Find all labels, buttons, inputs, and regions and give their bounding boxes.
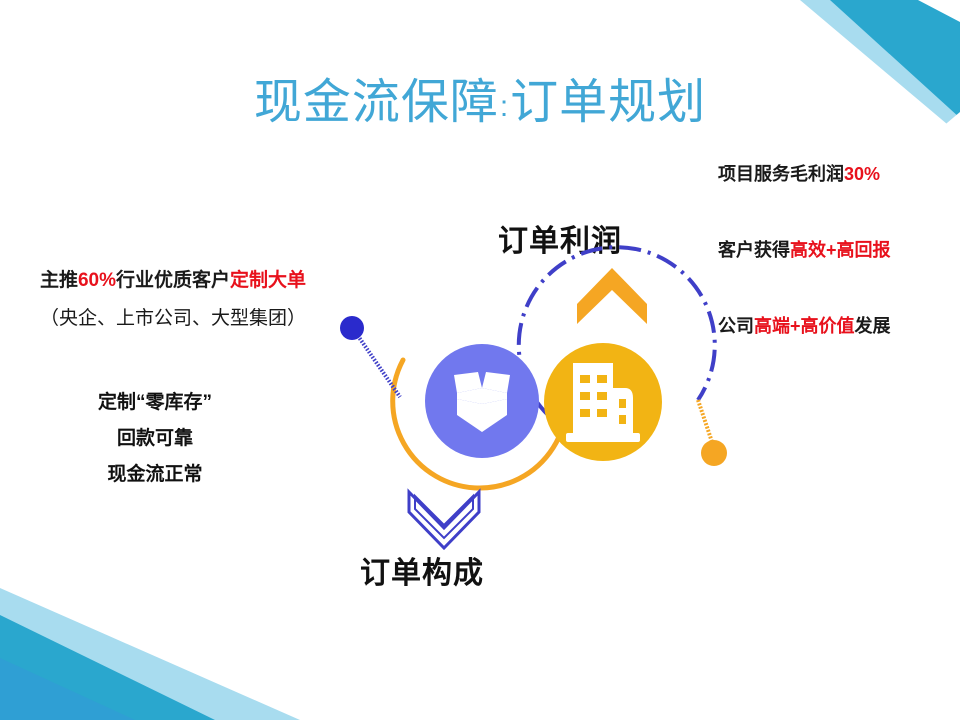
right-item-2-part3: 发展 xyxy=(855,316,891,336)
list-item: 客户获得高效+高回报 xyxy=(718,236,956,262)
right-benefit-list: 项目服务毛利润30% 客户获得高效+高回报 公司高端+高价值发展 xyxy=(718,160,956,388)
chevron-up-icon xyxy=(577,268,647,324)
left-headline-highlight: 定制大单 xyxy=(230,270,306,291)
page-title-main: 现金流保障 xyxy=(254,76,499,129)
page-title: 现金流保障:订单规划 xyxy=(0,62,960,132)
orange-connector-line xyxy=(698,400,713,445)
blue-dot-marker xyxy=(340,316,364,340)
left-subline: （央企、上市公司、大型集团） xyxy=(8,303,338,330)
right-item-0-part1: 项目服务毛利润 xyxy=(718,164,844,184)
right-item-2-highlight: 高端+高价值 xyxy=(754,316,855,336)
left-headline: 主推60%行业优质客户定制大单 xyxy=(8,265,338,292)
left-headline-part1: 主推 xyxy=(40,270,78,291)
left-bullet-list: 定制“零库存” 回款可靠 现金流正常 xyxy=(30,385,280,493)
list-item: 项目服务毛利润30% xyxy=(718,160,956,186)
bottom-left-decoration xyxy=(0,570,320,720)
left-headline-percent: 60% xyxy=(78,270,116,291)
left-headline-part3: 行业优质客户 xyxy=(116,270,230,291)
right-item-0-highlight: 30% xyxy=(844,164,880,184)
list-item: 定制“零库存” xyxy=(30,385,280,421)
blue-connector-line xyxy=(356,333,400,397)
right-item-1-highlight: 高效+高回报 xyxy=(790,240,891,260)
orange-dot-marker xyxy=(701,440,727,466)
list-item: 公司高端+高价值发展 xyxy=(718,312,956,338)
chevron-down-inner-icon xyxy=(415,496,473,538)
list-item: 现金流正常 xyxy=(30,457,280,493)
slide-canvas: 现金流保障:订单规划 主推60%行业优质客户定制大单 （央企、上市公司、大型集团… xyxy=(0,0,960,720)
cash-flow-diagram xyxy=(320,200,740,560)
page-title-rest: 订单规划 xyxy=(510,76,706,129)
page-title-separator: : xyxy=(500,90,509,123)
list-item: 回款可靠 xyxy=(30,421,280,457)
